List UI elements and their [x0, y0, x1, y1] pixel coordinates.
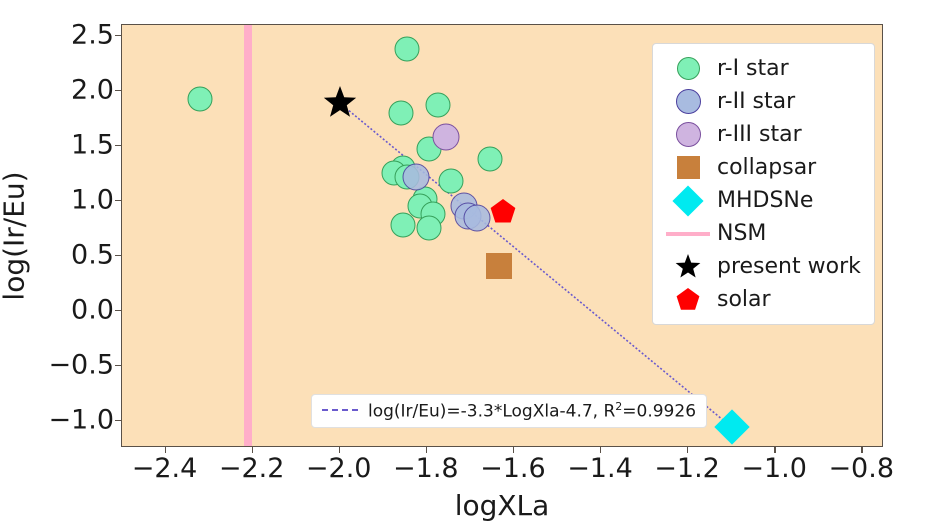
data-point-r-i-star — [425, 93, 450, 118]
x-tick-label: −1.2 — [654, 455, 720, 482]
y-tick-label: 1.0 — [71, 186, 114, 213]
legend-item-label: solar — [717, 287, 771, 312]
y-tick-label: 2.5 — [71, 21, 114, 48]
x-tick-label: −1.6 — [480, 455, 546, 482]
x-tick-label: −2.2 — [219, 455, 285, 482]
x-tick-label: −1.4 — [567, 455, 633, 482]
legend-item-label: MHDSNe — [717, 188, 813, 213]
x-tick-mark — [861, 447, 862, 453]
legend-item-r-ii-star[interactable]: r-II star — [659, 85, 864, 118]
x-tick-label: −2.0 — [306, 455, 372, 482]
line-pink-icon — [659, 217, 717, 250]
x-tick-label: −1.8 — [393, 455, 459, 482]
data-point-r-i-star — [395, 37, 420, 62]
y-tick-label: 2.0 — [71, 76, 114, 103]
legend-item-label: present work — [717, 254, 861, 279]
legend-item-r-i-star[interactable]: r-I star — [659, 52, 864, 85]
regression-equation-annotation: log(Ir/Eu)=-3.3*LogXla-4.7, R2=0.9926 — [311, 394, 707, 428]
x-tick-mark — [252, 447, 253, 453]
legend-item-label: r-II star — [717, 89, 795, 114]
legend-item-label: NSM — [717, 221, 766, 246]
data-point-r-i-star — [438, 169, 463, 194]
legend-item-solar[interactable]: solar — [659, 283, 864, 316]
x-tick-mark — [687, 447, 688, 453]
data-point-r-i-star — [416, 216, 441, 241]
legend: r-I starr-II starr-III starcollapsarMHDS… — [652, 43, 875, 325]
legend-item-label: collapsar — [717, 155, 816, 180]
x-tick-mark — [600, 447, 601, 453]
legend-item-present-work[interactable]: present work — [659, 250, 864, 283]
data-point-r-iii-star — [433, 124, 460, 151]
y-axis-label: log(Ir/Eu) — [0, 171, 31, 300]
data-point-r-ii-star — [402, 163, 429, 190]
data-point-r-i-star — [388, 100, 413, 125]
equation-main: log(Ir/Eu)=-3.3*LogXla-4.7, R — [368, 402, 615, 422]
pentagon-red-icon — [659, 283, 717, 316]
data-point-r-i-star — [477, 147, 502, 172]
legend-item-nsm[interactable]: NSM — [659, 217, 864, 250]
plot-area: log(Ir/Eu)=-3.3*LogXla-4.7, R2=0.9926 r-… — [121, 24, 883, 447]
scatter-plot-figure: log(Ir/Eu) logXLa −2.4−2.2−2.0−1.8−1.6−1… — [0, 0, 934, 523]
legend-item-mhdsne[interactable]: MHDSNe — [659, 184, 864, 217]
x-tick-label: −2.4 — [132, 455, 198, 482]
circle-green-icon — [659, 52, 717, 85]
y-tick-label: 0.0 — [71, 296, 114, 323]
x-tick-mark — [513, 447, 514, 453]
y-tick-label: −0.5 — [48, 351, 114, 378]
x-tick-label: −0.8 — [828, 455, 894, 482]
y-tick-label: 0.5 — [71, 241, 114, 268]
legend-item-label: r-I star — [717, 56, 789, 81]
y-tick-label: 1.5 — [71, 131, 114, 158]
circle-purple-icon — [659, 118, 717, 151]
data-point-r-i-star — [390, 212, 415, 237]
x-tick-mark — [339, 447, 340, 453]
legend-item-collapsar[interactable]: collapsar — [659, 151, 864, 184]
x-tick-mark — [165, 447, 166, 453]
data-point-present-work — [323, 86, 357, 120]
regression-equation-text: log(Ir/Eu)=-3.3*LogXla-4.7, R2=0.9926 — [368, 400, 696, 422]
data-point-collapsar — [486, 253, 512, 279]
dashed-line-icon — [322, 409, 358, 413]
square-brown-icon — [659, 151, 717, 184]
x-tick-mark — [426, 447, 427, 453]
data-point-solar — [490, 199, 524, 233]
y-tick-label: −1.0 — [48, 406, 114, 433]
x-axis-label: logXLa — [455, 489, 550, 522]
x-tick-mark — [774, 447, 775, 453]
nsm-vertical-line — [244, 25, 252, 446]
x-tick-label: −1.0 — [741, 455, 807, 482]
legend-item-label: r-III star — [717, 122, 802, 147]
data-point-r-ii-star — [463, 205, 490, 232]
star-black-icon — [659, 250, 717, 283]
legend-item-r-iii-star[interactable]: r-III star — [659, 118, 864, 151]
diamond-cyan-icon — [659, 184, 717, 217]
equation-suffix: =0.9926 — [622, 402, 696, 422]
data-point-r-i-star — [188, 86, 213, 111]
circle-blue-icon — [659, 85, 717, 118]
